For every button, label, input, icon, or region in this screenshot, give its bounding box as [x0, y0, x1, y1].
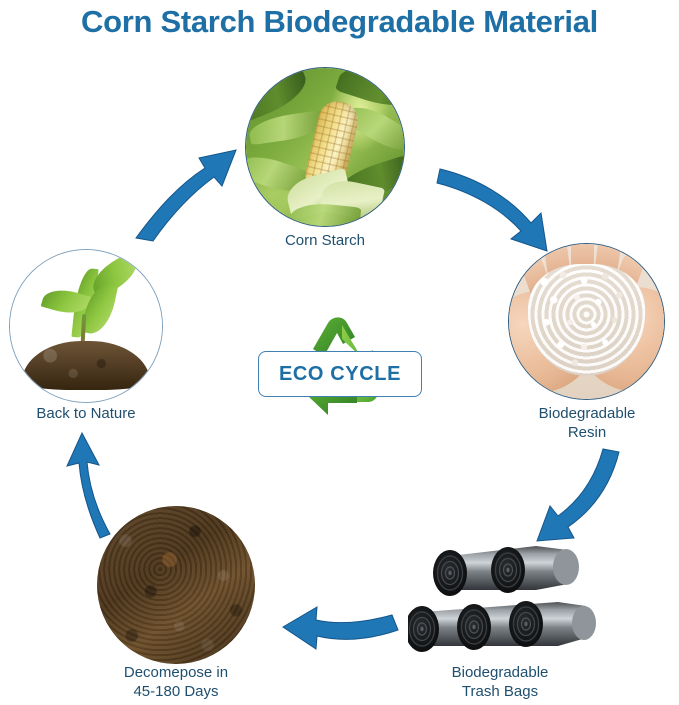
- stacked-trash-bag-rolls-photo: [408, 528, 598, 658]
- node-label-back-to-nature: Back to Nature: [6, 404, 166, 423]
- corn-cob-photo: [246, 68, 404, 226]
- corn-seedling-in-soil-photo: [10, 250, 162, 402]
- node-label-biodegradable-trash-bags: Biodegradable Trash Bags: [405, 663, 595, 701]
- dark-compost-soil-photo: [97, 506, 255, 664]
- node-label-corn-starch: Corn Starch: [245, 231, 405, 250]
- hands-holding-resin-pellets-photo: [509, 244, 664, 399]
- eco-cycle-badge: ECO CYCLE: [258, 351, 422, 397]
- arrow-corn-to-resin: [437, 169, 547, 251]
- eco-cycle-label: ECO CYCLE: [279, 363, 401, 386]
- node-label-biodegradable-resin: Biodegradable Resin: [504, 404, 670, 442]
- node-label-decompose: Decomepose in 45-180 Days: [91, 663, 261, 701]
- arrow-bags-to-decompose: [283, 607, 398, 649]
- arrow-nature-to-corn: [136, 150, 236, 241]
- infographic-canvas: Corn Starch Biodegradable Material: [0, 0, 679, 705]
